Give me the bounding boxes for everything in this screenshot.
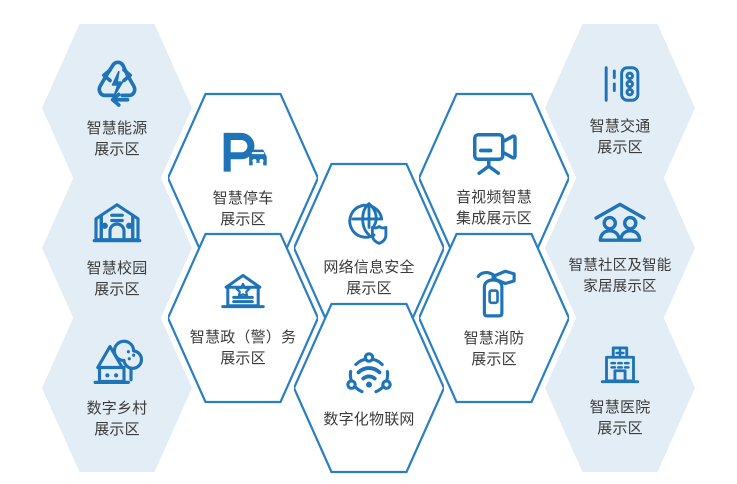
hex-cell-smart-firefighting[interactable]: 智慧消防 展示区: [419, 232, 569, 404]
hexagon-diagram-canvas: 智慧能源 展示区 智慧校园 展示区: [0, 0, 737, 484]
hexagon-shape-outlined: [419, 232, 569, 404]
